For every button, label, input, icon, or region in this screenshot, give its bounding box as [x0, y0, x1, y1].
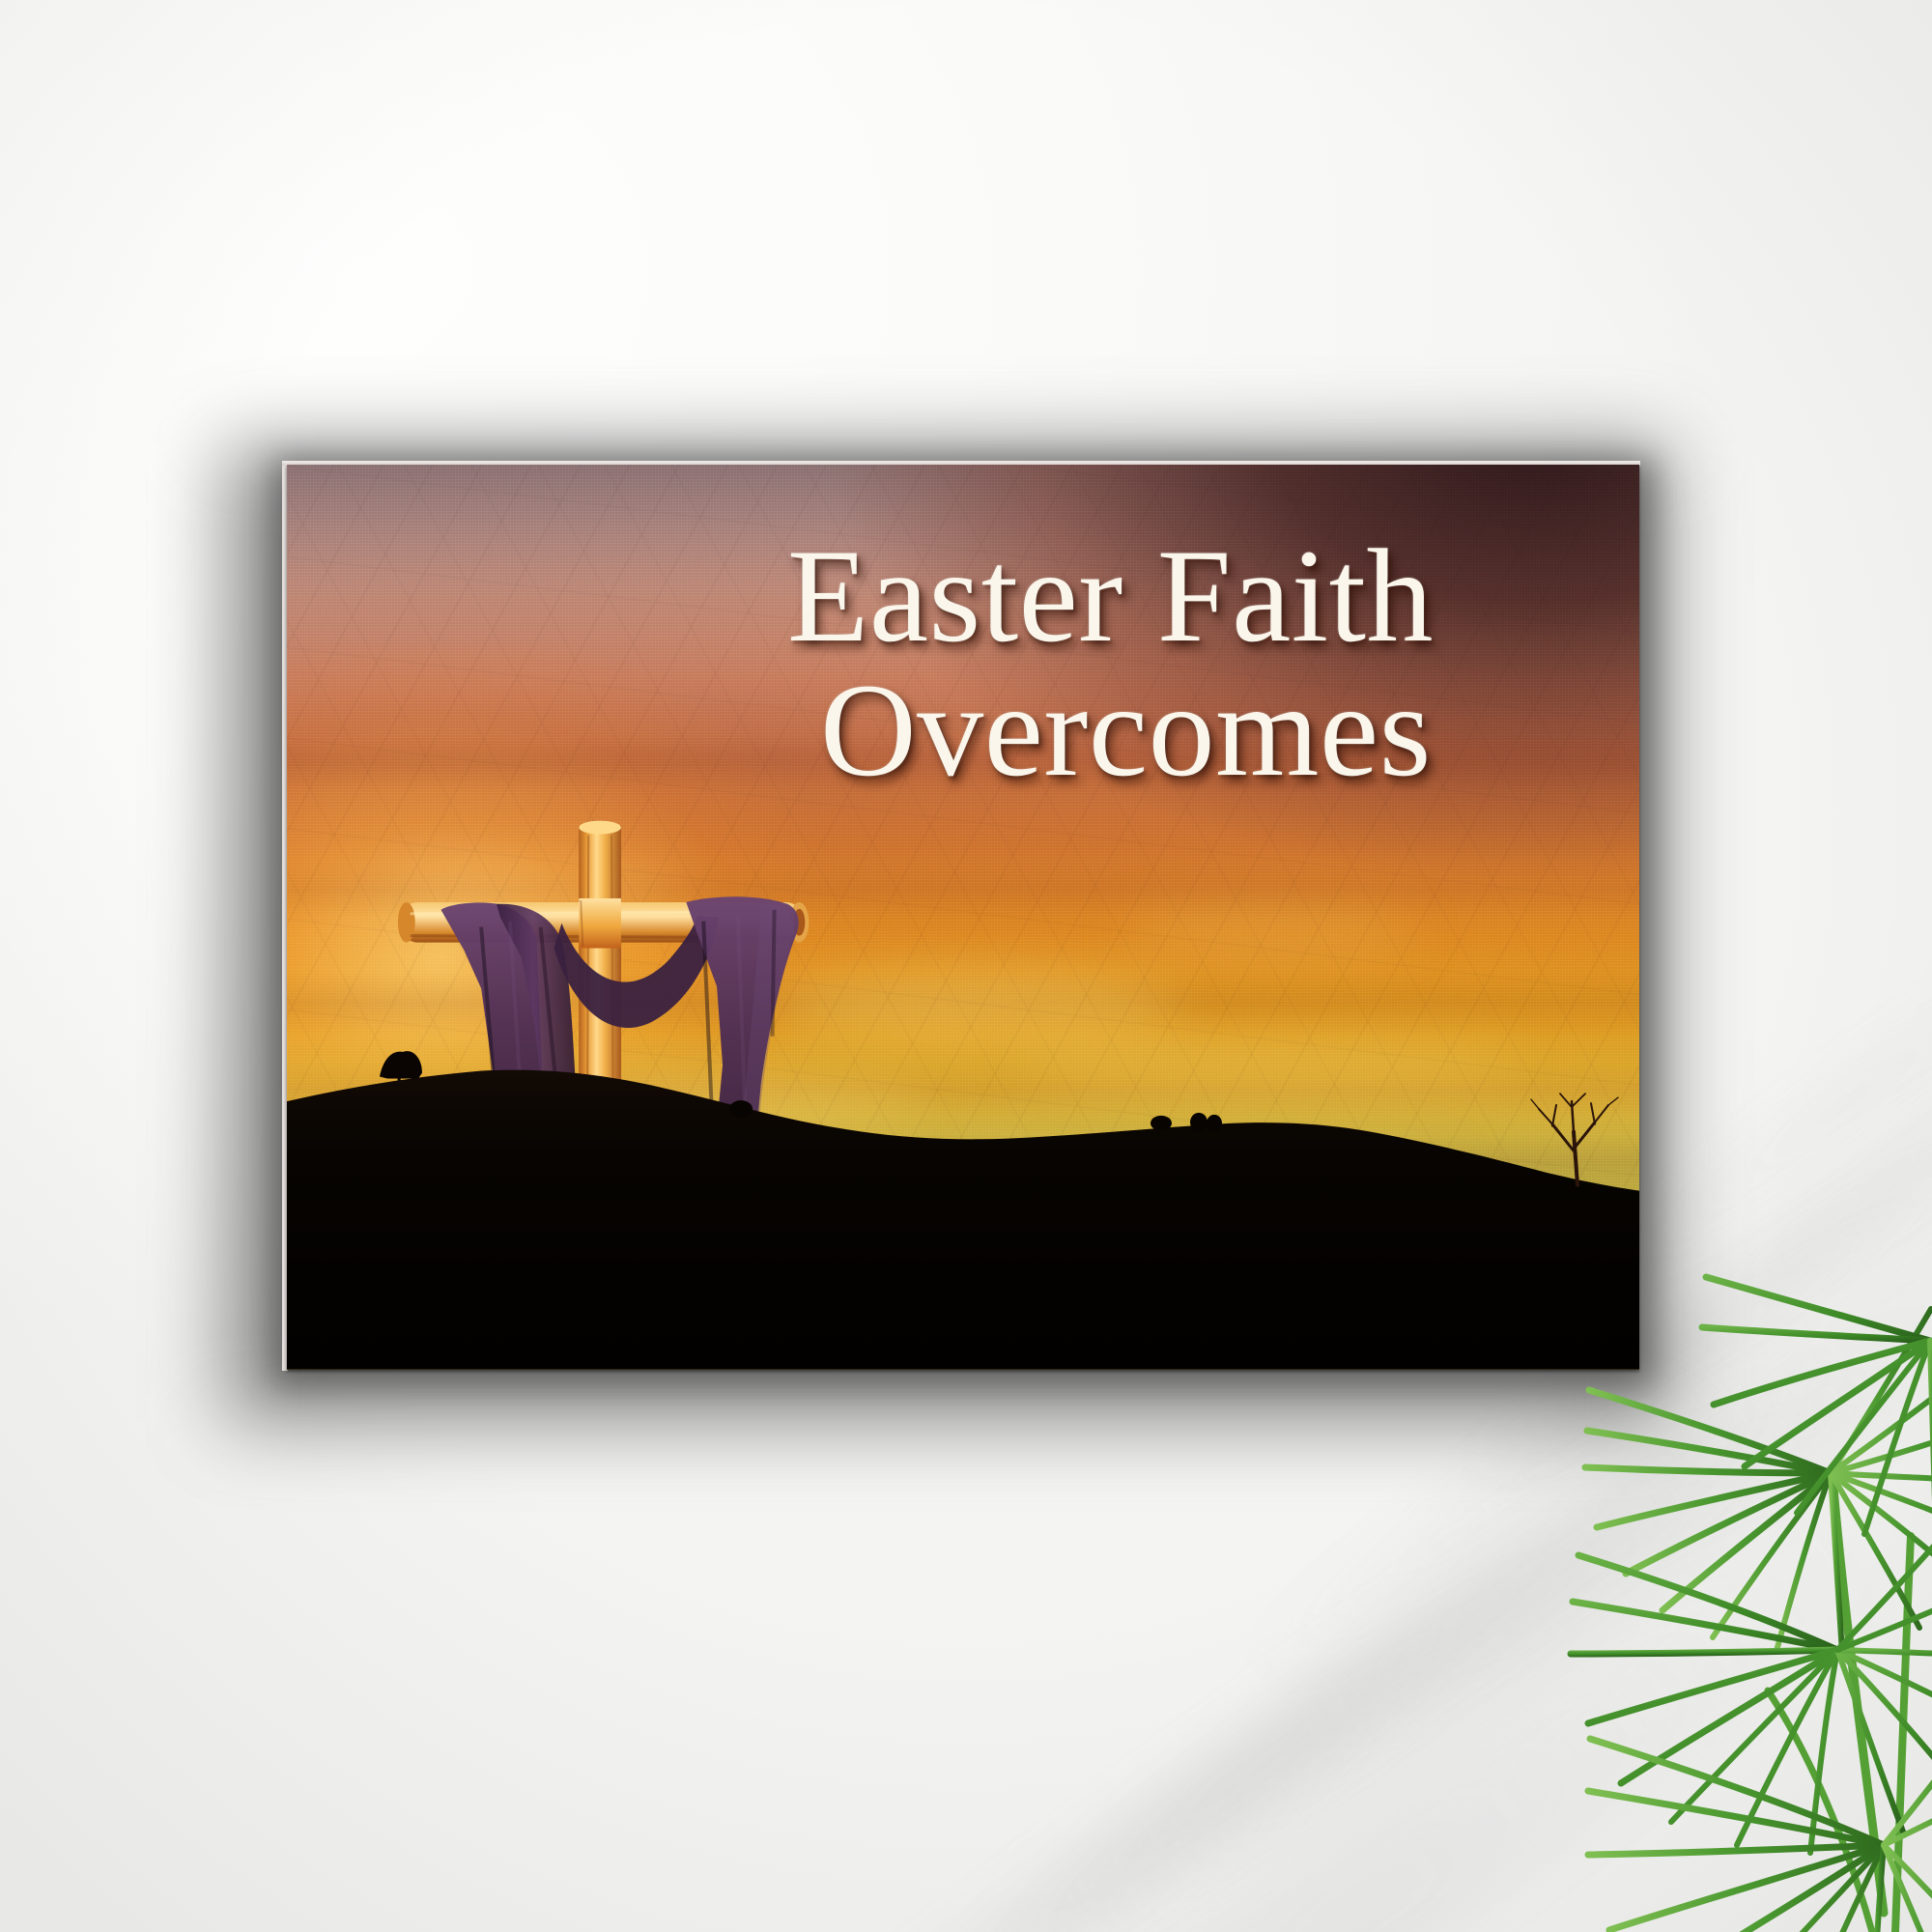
artwork-surface: Easter Faith Overcomes: [287, 465, 1639, 1370]
hill-silhouette: [287, 989, 1639, 1370]
artwork-headline: Easter Faith Overcomes: [774, 532, 1612, 793]
headline-line-2: Overcomes: [774, 667, 1612, 793]
scene: Easter Faith Overcomes: [0, 0, 1932, 1932]
canvas-artwork[interactable]: Easter Faith Overcomes: [287, 465, 1639, 1370]
headline-line-1: Easter Faith: [774, 532, 1612, 659]
